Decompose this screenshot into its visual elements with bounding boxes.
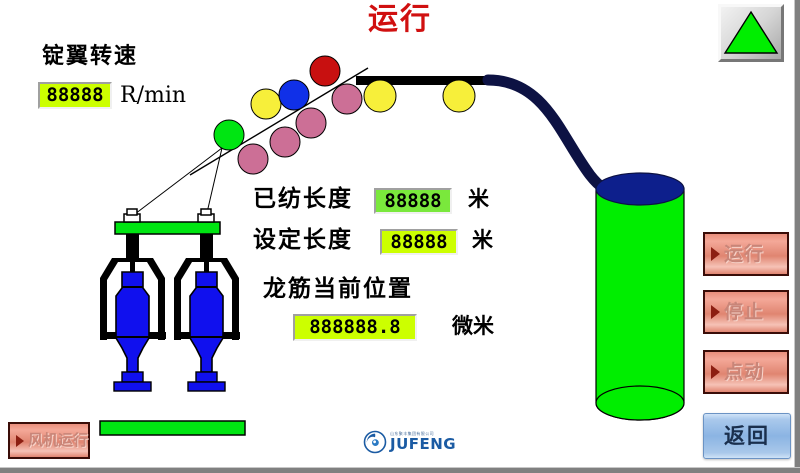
- value-set-length[interactable]: 88888: [380, 229, 458, 255]
- roller-pink-1: [238, 144, 268, 174]
- roller-pink-4: [332, 84, 362, 114]
- jog-button[interactable]: 点动: [703, 350, 789, 394]
- label-flyer-speed: 锭翼转速: [42, 46, 138, 68]
- label-spun-length: 已纺长度: [253, 188, 353, 211]
- value-spun-length[interactable]: 88888: [374, 188, 452, 214]
- unit-set-length: 米: [472, 230, 493, 251]
- roller-yellow-2: [364, 80, 396, 112]
- roller-yellow-3: [443, 80, 475, 112]
- roller-green: [214, 120, 244, 150]
- page-title: 运行: [340, 2, 460, 38]
- window-edge-bottom: [0, 467, 800, 473]
- triangle-up-icon: [721, 7, 781, 59]
- return-button-label: 返回: [724, 426, 770, 447]
- fan-run-button-label: 风机运行: [28, 433, 88, 448]
- jog-button-label: 点动: [724, 363, 764, 382]
- value-flyer-speed[interactable]: 88888: [38, 82, 112, 109]
- roller-red: [310, 56, 340, 86]
- stop-button[interactable]: 停止: [703, 290, 789, 334]
- play-arrow-icon: [711, 365, 720, 379]
- run-button-label: 运行: [724, 245, 764, 264]
- roller-pink-2: [270, 127, 300, 157]
- window-edge-right: [794, 0, 800, 473]
- run-button[interactable]: 运行: [703, 232, 789, 276]
- scroll-up-triangle-button[interactable]: [718, 4, 784, 62]
- unit-rib-position: 微米: [452, 316, 494, 337]
- roller-blue: [279, 80, 309, 110]
- hmi-screen: 运行 锭翼转速 88888 R/min 已纺长度 88888 米 设定长度 88…: [0, 0, 800, 473]
- roller-pink-3: [296, 108, 326, 138]
- unit-flyer-speed: R/min: [120, 85, 186, 107]
- return-button[interactable]: 返回: [703, 413, 791, 459]
- roller-yellow-1: [251, 89, 281, 119]
- brand-en-text: JUFENG: [390, 437, 456, 452]
- play-arrow-icon: [711, 247, 720, 261]
- stop-button-label: 停止: [724, 303, 764, 322]
- jufeng-swirl-icon: [363, 430, 387, 454]
- brand-logo: 山东聚丰集团有限公司 JUFENG: [363, 427, 467, 457]
- fan-run-button[interactable]: 风机运行: [8, 422, 90, 459]
- unit-spun-length: 米: [468, 189, 489, 210]
- play-arrow-icon: [16, 435, 24, 447]
- label-rib-position: 龙筋当前位置: [263, 278, 413, 301]
- label-set-length: 设定长度: [253, 229, 353, 252]
- play-arrow-icon: [711, 305, 720, 319]
- value-rib-position[interactable]: 888888.8: [293, 314, 417, 341]
